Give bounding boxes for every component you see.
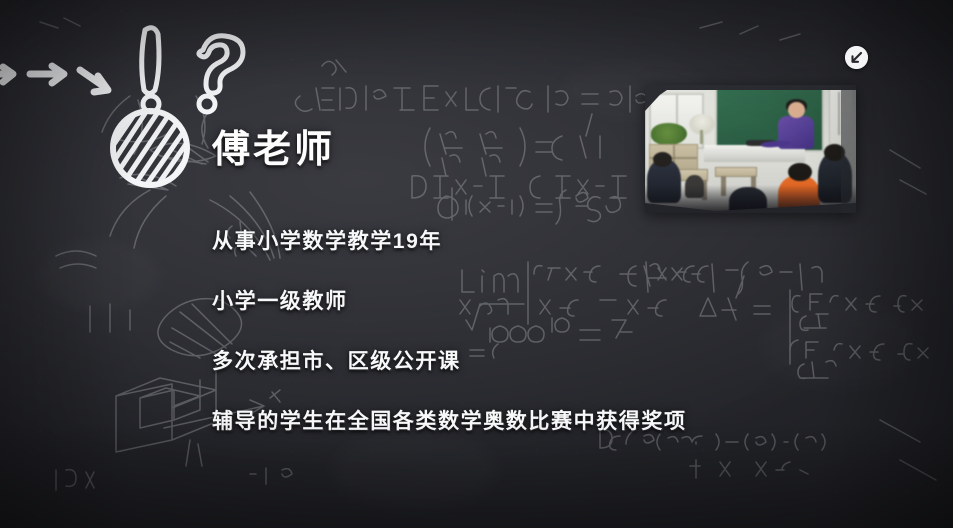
list-item: 辅导的学生在全国各类数学奥数比赛中获得奖项	[212, 405, 872, 435]
video-frame	[645, 85, 856, 213]
student-head	[824, 144, 845, 161]
bullet-list: 从事小学数学教学19年 小学一级教师 多次承担市、区级公开课 辅导的学生在全国各…	[212, 225, 872, 435]
list-item: 多次承担市、区级公开课	[212, 345, 872, 375]
classroom-video-thumbnail[interactable]	[645, 85, 856, 213]
student-head	[788, 163, 811, 181]
list-item: 小学一级教师	[212, 285, 872, 315]
slide-canvas: 傅老师 从事小学数学教学19年 小学一级教师 多次承担市、区级公开课 辅导的学生…	[0, 0, 953, 528]
video-bottom-shadow	[645, 185, 856, 213]
pip-minimize-button[interactable]	[845, 46, 868, 69]
list-item: 从事小学数学教学19年	[212, 225, 872, 255]
flower-vase	[689, 114, 714, 134]
